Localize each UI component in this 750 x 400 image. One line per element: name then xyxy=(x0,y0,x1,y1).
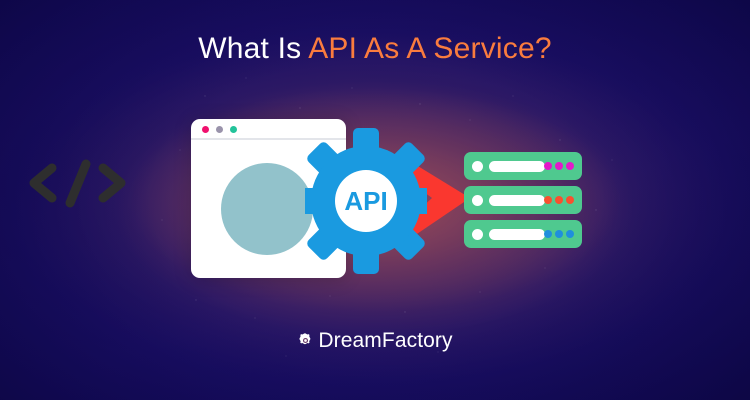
server-led-icon xyxy=(472,195,483,206)
minimize-dot xyxy=(216,126,223,133)
server-slot-bar xyxy=(489,161,545,172)
server-stack xyxy=(464,152,582,248)
api-gear: API xyxy=(305,128,427,274)
server-rack-top xyxy=(464,152,582,180)
server-status-dots-bottom xyxy=(544,230,574,238)
dreamfactory-wordmark: DreamFactory xyxy=(318,330,452,351)
api-gear-label: API xyxy=(344,186,387,216)
close-dot xyxy=(202,126,209,133)
maximize-dot xyxy=(230,126,237,133)
server-status-dots-top xyxy=(544,162,574,170)
banner-image: What Is API As A Service? xyxy=(0,0,750,400)
server-rack-middle xyxy=(464,186,582,214)
code-circle-backdrop xyxy=(221,163,313,255)
server-slot-bar xyxy=(489,229,545,240)
server-rack-bottom xyxy=(464,220,582,248)
server-led-icon xyxy=(472,229,483,240)
dreamfactory-logo: DreamFactory xyxy=(0,330,750,351)
dreamfactory-cog-icon xyxy=(297,332,314,349)
code-brackets-icon xyxy=(25,156,130,210)
server-status-dots-middle xyxy=(544,196,574,204)
server-led-icon xyxy=(472,161,483,172)
server-slot-bar xyxy=(489,195,545,206)
